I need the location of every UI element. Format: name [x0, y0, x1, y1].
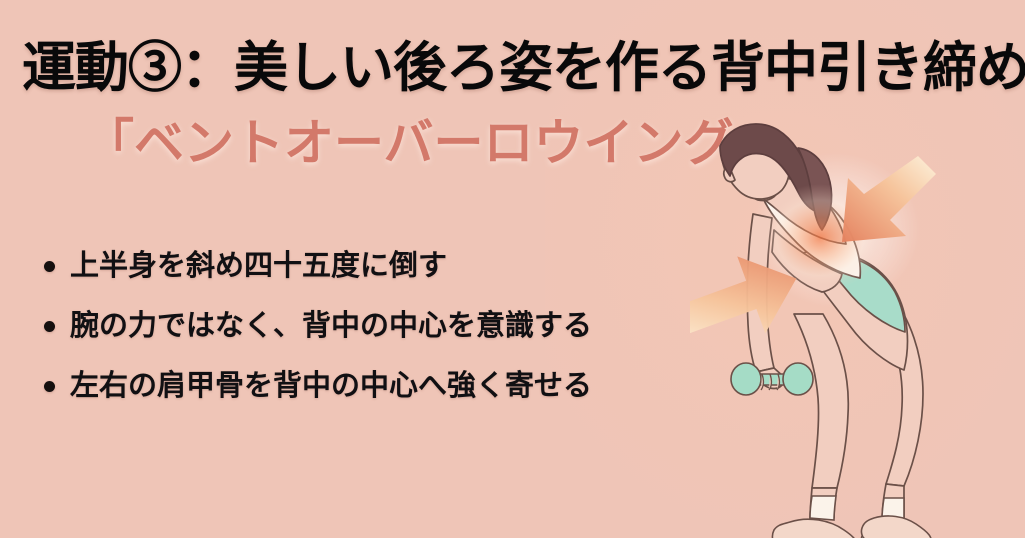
bullet-dot-icon	[44, 321, 55, 332]
near-sock	[810, 496, 836, 520]
far-shoe	[862, 516, 933, 538]
slide-root: 運動③：美しい後ろ姿を作る背中引き締め 「ベントオーバーロウイング」 上半身を斜…	[0, 0, 1025, 538]
bullet-dot-icon	[44, 261, 55, 272]
page-title: 運動③：美しい後ろ姿を作る背中引き締め	[22, 40, 1007, 97]
bullet-text: 左右の肩甲骨を背中の中心へ強く寄せる	[70, 368, 592, 405]
page-subtitle: 「ベントオーバーロウイング」	[84, 116, 784, 171]
bullet-text: 腕の力ではなく、背中の中心を意識する	[70, 308, 592, 345]
near-leg	[794, 314, 848, 488]
list-item: 上半身を斜め四十五度に倒す	[44, 248, 684, 286]
bent-over-row-woman-illustration	[690, 118, 1025, 538]
list-item: 腕の力ではなく、背中の中心を意識する	[44, 308, 684, 346]
bullet-list: 上半身を斜め四十五度に倒す 腕の力ではなく、背中の中心を意識する 左右の肩甲骨を…	[44, 248, 684, 428]
bullet-dot-icon	[44, 381, 55, 392]
near-shoe	[773, 519, 859, 538]
bullet-text: 上半身を斜め四十五度に倒す	[70, 248, 447, 285]
list-item: 左右の肩甲骨を背中の中心へ強く寄せる	[44, 368, 684, 406]
